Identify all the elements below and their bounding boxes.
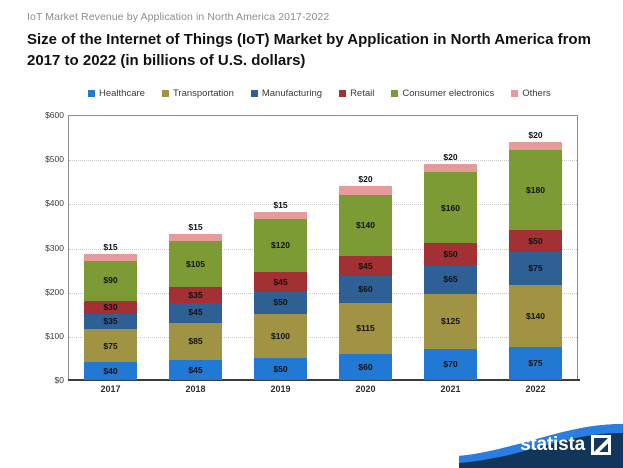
bar-segment-healthcare[interactable]: $40 (84, 362, 137, 380)
bar-segment-label: $20 (358, 175, 372, 184)
bar-segment-label: $75 (528, 359, 542, 368)
y-tick-label: $600 (28, 110, 64, 120)
bar-segment-consumer-electronics[interactable]: $160 (424, 172, 477, 243)
bar-group-2022[interactable]: $75$140$75$50$180$20 (509, 115, 562, 380)
legend-swatch-icon (339, 90, 346, 97)
bar-segment-label: $70 (443, 360, 457, 369)
legend-item-others[interactable]: Others (511, 88, 551, 99)
legend-item-healthcare[interactable]: Healthcare (88, 88, 145, 99)
bar-segment-manufacturing[interactable]: $65 (424, 265, 477, 294)
bar-segment-healthcare[interactable]: $45 (169, 360, 222, 380)
statista-mark-icon (591, 435, 611, 455)
bar-segment-label: $15 (188, 223, 202, 232)
y-tick-label: $0 (28, 375, 64, 385)
legend-swatch-icon (162, 90, 169, 97)
bar-segment-label: $50 (443, 250, 457, 259)
bar-segment-label: $15 (103, 243, 117, 252)
legend-swatch-icon (88, 90, 95, 97)
bar-segment-label: $75 (528, 264, 542, 273)
bar-segment-healthcare[interactable]: $60 (339, 354, 392, 381)
bar-segment-manufacturing[interactable]: $50 (254, 292, 307, 314)
x-tick-label: 2020 (339, 384, 392, 394)
bar-segment-label: $60 (358, 363, 372, 372)
bar-segment-retail[interactable]: $50 (424, 243, 477, 265)
bar-segment-transportation[interactable]: $100 (254, 314, 307, 358)
legend-swatch-icon (391, 90, 398, 97)
y-tick-label: $500 (28, 154, 64, 164)
bar-segment-others[interactable]: $20 (509, 142, 562, 151)
bar-series-container: $40$75$35$30$90$15$45$85$45$35$105$15$50… (68, 115, 578, 380)
bar-segment-label: $85 (188, 337, 202, 346)
x-tick-label: 2018 (169, 384, 222, 394)
bar-group-2017[interactable]: $40$75$35$30$90$15 (84, 115, 137, 380)
bar-segment-healthcare[interactable]: $70 (424, 349, 477, 380)
bar-segment-label: $50 (273, 298, 287, 307)
bar-segment-healthcare[interactable]: $50 (254, 358, 307, 380)
bar-segment-label: $20 (443, 153, 457, 162)
x-tick-label: 2019 (254, 384, 307, 394)
x-tick-label: 2021 (424, 384, 477, 394)
bar-segment-label: $20 (528, 131, 542, 140)
bar-segment-label: $90 (103, 276, 117, 285)
bar-segment-healthcare[interactable]: $75 (509, 347, 562, 380)
x-tick-label: 2017 (84, 384, 137, 394)
statista-logo: statista (459, 416, 623, 468)
bar-stack: $70$125$65$50$160$20 (424, 164, 477, 380)
bar-group-2019[interactable]: $50$100$50$45$120$15 (254, 115, 307, 380)
legend-swatch-icon (511, 90, 518, 97)
bar-segment-retail[interactable]: $45 (254, 272, 307, 292)
bar-segment-label: $50 (528, 237, 542, 246)
bar-segment-consumer-electronics[interactable]: $140 (339, 195, 392, 257)
bar-segment-label: $45 (188, 308, 202, 317)
bar-segment-others[interactable]: $20 (424, 164, 477, 173)
bar-stack: $60$115$60$45$140$20 (339, 186, 392, 380)
x-tick-label: 2022 (509, 384, 562, 394)
legend-item-label: Retail (350, 88, 374, 99)
bar-segment-label: $65 (443, 275, 457, 284)
bar-segment-label: $60 (358, 285, 372, 294)
bar-segment-retail[interactable]: $35 (169, 287, 222, 302)
bar-segment-label: $45 (273, 278, 287, 287)
bar-segment-label: $140 (526, 312, 545, 321)
bar-segment-transportation[interactable]: $75 (84, 329, 137, 362)
legend-item-manufacturing[interactable]: Manufacturing (251, 88, 322, 99)
bar-segment-manufacturing[interactable]: $60 (339, 276, 392, 303)
legend-item-label: Consumer electronics (402, 88, 494, 99)
bar-segment-label: $125 (441, 317, 460, 326)
bar-segment-consumer-electronics[interactable]: $120 (254, 219, 307, 272)
bar-segment-label: $120 (271, 241, 290, 250)
y-tick-label: $300 (28, 243, 64, 253)
bar-stack: $75$140$75$50$180$20 (509, 142, 562, 380)
legend-item-transportation[interactable]: Transportation (162, 88, 234, 99)
bar-group-2021[interactable]: $70$125$65$50$160$20 (424, 115, 477, 380)
statista-wordmark: statista (520, 434, 585, 456)
bar-segment-consumer-electronics[interactable]: $105 (169, 241, 222, 287)
bar-segment-manufacturing[interactable]: $75 (509, 252, 562, 285)
bar-segment-label: $140 (356, 221, 375, 230)
bar-segment-label: $75 (103, 342, 117, 351)
bar-segment-label: $45 (188, 366, 202, 375)
bar-segment-others[interactable]: $15 (84, 254, 137, 261)
bar-segment-manufacturing[interactable]: $35 (84, 314, 137, 329)
chart-legend: HealthcareTransportationManufacturingRet… (88, 88, 551, 99)
bar-segment-consumer-electronics[interactable]: $180 (509, 150, 562, 230)
legend-item-label: Healthcare (99, 88, 145, 99)
bar-segment-label: $35 (188, 291, 202, 300)
bar-segment-transportation[interactable]: $85 (169, 323, 222, 361)
legend-item-consumer-electronics[interactable]: Consumer electronics (391, 88, 494, 99)
bar-group-2018[interactable]: $45$85$45$35$105$15 (169, 115, 222, 380)
bar-stack: $45$85$45$35$105$15 (169, 234, 222, 380)
bar-segment-label: $30 (103, 303, 117, 312)
bar-segment-retail[interactable]: $50 (509, 230, 562, 252)
y-tick-label: $100 (28, 331, 64, 341)
bar-segment-transportation[interactable]: $140 (509, 285, 562, 347)
bar-segment-retail[interactable]: $30 (84, 301, 137, 314)
bar-segment-others[interactable]: $20 (339, 186, 392, 195)
y-tick-label: $400 (28, 198, 64, 208)
y-axis-ticks: Market size in billion U.S. dollars $0$1… (26, 115, 64, 380)
bar-segment-label: $35 (103, 317, 117, 326)
y-tick-label: $200 (28, 287, 64, 297)
bar-segment-others[interactable]: $15 (169, 234, 222, 241)
bar-group-2020[interactable]: $60$115$60$45$140$20 (339, 115, 392, 380)
bar-segment-label: $100 (271, 332, 290, 341)
bar-segment-manufacturing[interactable]: $45 (169, 303, 222, 323)
bar-segment-label: $15 (273, 201, 287, 210)
bar-segment-label: $50 (273, 365, 287, 374)
bar-segment-label: $115 (356, 324, 374, 333)
bar-segment-consumer-electronics[interactable]: $90 (84, 261, 137, 301)
bar-segment-label: $105 (186, 260, 205, 269)
legend-item-retail[interactable]: Retail (339, 88, 374, 99)
chart-kicker: IoT Market Revenue by Application in Nor… (27, 11, 329, 23)
bar-segment-others[interactable]: $15 (254, 212, 307, 219)
bar-segment-label: $40 (103, 367, 117, 376)
chart-headline: Size of the Internet of Things (IoT) Mar… (27, 29, 607, 72)
legend-item-label: Others (522, 88, 551, 99)
legend-item-label: Transportation (173, 88, 234, 99)
chart-page: IoT Market Revenue by Application in Nor… (0, 0, 624, 468)
bar-segment-label: $180 (526, 186, 545, 195)
bar-stack: $40$75$35$30$90$15 (84, 254, 137, 380)
legend-item-label: Manufacturing (262, 88, 322, 99)
bar-stack: $50$100$50$45$120$15 (254, 212, 307, 380)
bar-segment-label: $160 (441, 204, 460, 213)
bar-segment-label: $45 (358, 262, 372, 271)
legend-swatch-icon (251, 90, 258, 97)
bar-segment-transportation[interactable]: $125 (424, 294, 477, 349)
bar-segment-transportation[interactable]: $115 (339, 303, 392, 354)
bar-segment-retail[interactable]: $45 (339, 256, 392, 276)
